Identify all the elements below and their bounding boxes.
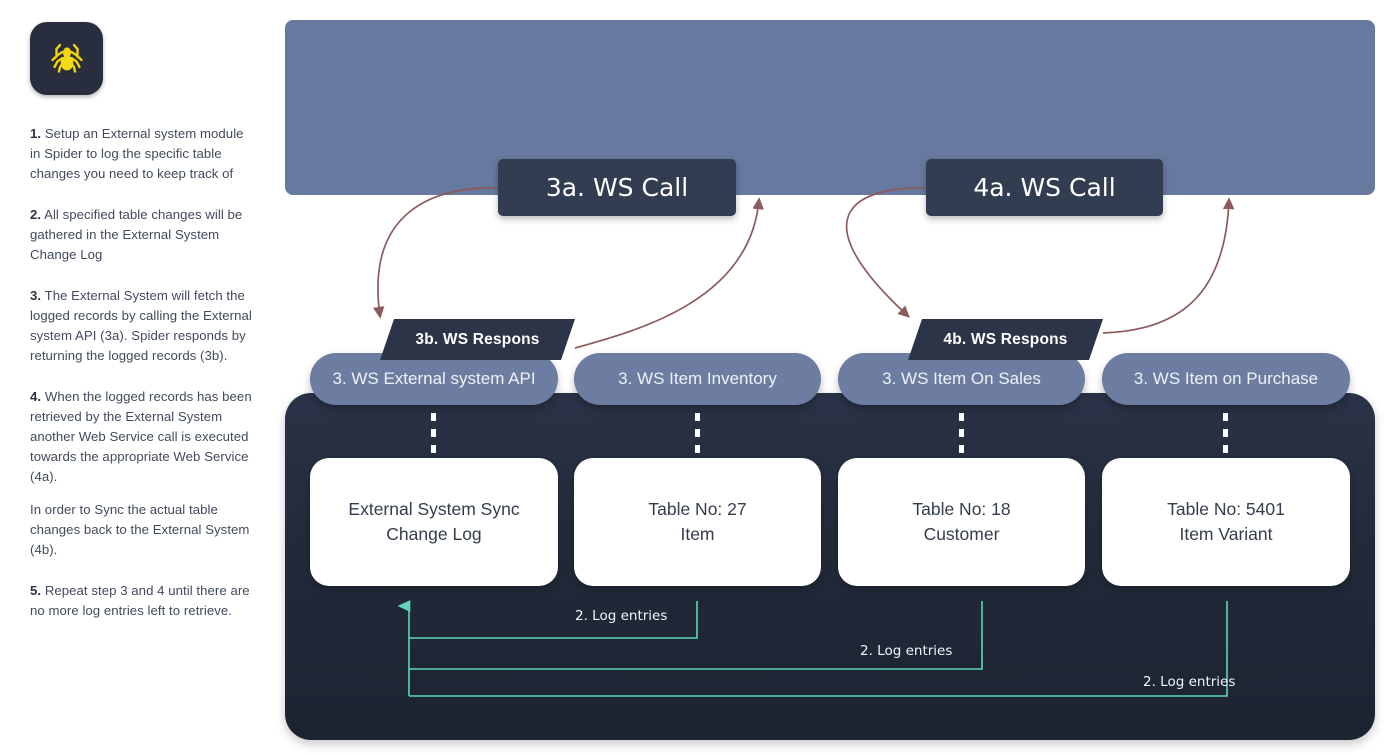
sidebar: 1. Setup an External system module in Sp… xyxy=(0,0,285,755)
table-card-line1: External System Sync xyxy=(348,499,519,519)
table-card-line1: Table No: 27 xyxy=(648,499,746,519)
step-3: 3. The External System will fetch the lo… xyxy=(30,286,255,366)
step-1: 1. Setup an External system module in Sp… xyxy=(30,124,255,184)
table-card-line2: Change Log xyxy=(348,522,519,547)
service-pill-item-on-sales[interactable]: 3. WS Item On Sales xyxy=(838,353,1085,405)
ws-call-4a-box[interactable]: 4a. WS Call xyxy=(926,159,1163,216)
dashed-connector-3 xyxy=(1223,413,1228,457)
table-card-item[interactable]: Table No: 27 Item xyxy=(574,458,821,586)
ws-respons-3b-box[interactable]: 3b. WS Respons xyxy=(380,319,575,360)
spider-logo-tile xyxy=(30,22,103,95)
step-5: 5. Repeat step 3 and 4 until there are n… xyxy=(30,581,255,621)
table-card-line2: Customer xyxy=(912,522,1010,547)
table-card-customer[interactable]: Table No: 18 Customer xyxy=(838,458,1085,586)
table-card-line1: Table No: 5401 xyxy=(1167,499,1285,519)
table-card-line2: Item xyxy=(648,522,746,547)
step-2: 2. All specified table changes will be g… xyxy=(30,205,255,265)
step-4: 4. When the logged records has been retr… xyxy=(30,387,255,487)
service-pill-external-system-api[interactable]: 3. WS External system API xyxy=(310,353,558,405)
table-card-line1: Table No: 18 xyxy=(912,499,1010,519)
log-entries-label-1: 2. Log entries xyxy=(575,608,667,624)
arrow-3a-to-3b xyxy=(378,188,500,316)
service-pill-item-on-purchase[interactable]: 3. WS Item on Purchase xyxy=(1102,353,1350,405)
arrow-4a-to-4b xyxy=(847,188,928,316)
log-entries-label-3: 2. Log entries xyxy=(1143,674,1235,690)
instruction-steps: 1. Setup an External system module in Sp… xyxy=(30,124,255,621)
flow-diagram: External system 3a. WS Call 4a. WS Call … xyxy=(285,0,1384,755)
external-system-band xyxy=(285,20,1375,195)
service-pill-item-inventory[interactable]: 3. WS Item Inventory xyxy=(574,353,821,405)
step-4b-note: In order to Sync the actual table change… xyxy=(30,500,255,560)
table-card-change-log[interactable]: External System Sync Change Log xyxy=(310,458,558,586)
dashed-connector-0 xyxy=(431,413,436,457)
arrow-respons-up-right xyxy=(1103,200,1229,333)
log-entries-label-2: 2. Log entries xyxy=(860,643,952,659)
ws-respons-4b-box[interactable]: 4b. WS Respons xyxy=(908,319,1103,360)
dashed-connector-2 xyxy=(959,413,964,457)
dashed-connector-1 xyxy=(695,413,700,457)
spider-icon xyxy=(44,36,90,82)
table-card-item-variant[interactable]: Table No: 5401 Item Variant xyxy=(1102,458,1350,586)
diagram-page: 1. Setup an External system module in Sp… xyxy=(0,0,1384,755)
ws-call-3a-box[interactable]: 3a. WS Call xyxy=(498,159,736,216)
table-card-line2: Item Variant xyxy=(1167,522,1285,547)
arrow-inventory-up xyxy=(575,200,759,348)
